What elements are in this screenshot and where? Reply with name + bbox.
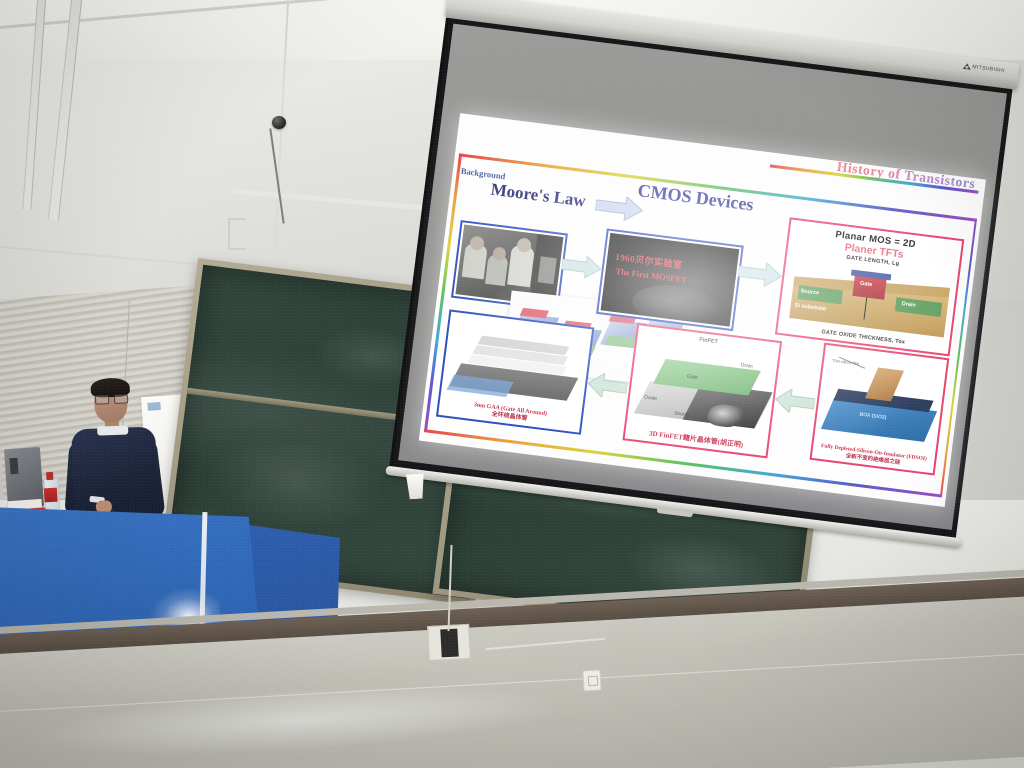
panel-fdsoi: Thin silicon film BOX (SiO2) Fully Deple… [809, 343, 949, 476]
finfet-region-gate: Gate [687, 374, 699, 381]
finfet-caption-cn: 3D FinFET鳍片晶体管(胡正明) [649, 429, 744, 449]
glasses-icon [95, 395, 126, 403]
presenter-collar [97, 425, 128, 435]
power-outlet[interactable] [582, 670, 601, 692]
panel-first-mosfet: 1960贝尔实验室 The First MOSFET [596, 228, 744, 331]
screen-border: History of Transistors Background Moore'… [391, 18, 1012, 546]
projection-screen: MITSUBISHI History of Transistors Backgr… [391, 18, 1012, 546]
mitsubishi-mark-icon [963, 63, 971, 70]
panel-gaa: 3nm GAA (Gate All Around) 全环绕晶体管 [436, 309, 594, 434]
bottle-cap [46, 472, 53, 480]
dome-sensor-icon [272, 116, 286, 129]
panel-planar-mos: Planar MOS = 2D Planer TFTs GATE LENGTH,… [775, 217, 964, 356]
lecture-hall-photo: MITSUBISHI History of Transistors Backgr… [0, 0, 1024, 768]
arrow-left-icon [773, 387, 816, 416]
arrow-right-icon [737, 259, 784, 288]
equipment-slot [9, 458, 18, 475]
slide-section-label: Background [460, 166, 506, 182]
screen-brand-label: MITSUBISHI [972, 64, 1005, 74]
arrow-right-icon [594, 193, 645, 223]
slide-title: History of Transistors [836, 159, 976, 192]
screen-canvas: History of Transistors Background Moore'… [398, 24, 1007, 530]
panel-finfet: FinFET Oxide Gate Source Drain [622, 323, 782, 458]
moores-law-heading: Moore's Law [490, 180, 587, 212]
bottle-label [44, 488, 58, 503]
arrow-left-icon [586, 371, 629, 400]
junction-box-face [440, 629, 458, 658]
presentation-slide: History of Transistors Background Moore'… [419, 113, 986, 507]
arrow-right-icon [561, 253, 603, 280]
fdsoi-buried-label: Thin silicon film [832, 358, 860, 366]
wall-bracket [228, 218, 246, 250]
mitsubishi-logo-icon: MITSUBISHI [963, 63, 1005, 74]
